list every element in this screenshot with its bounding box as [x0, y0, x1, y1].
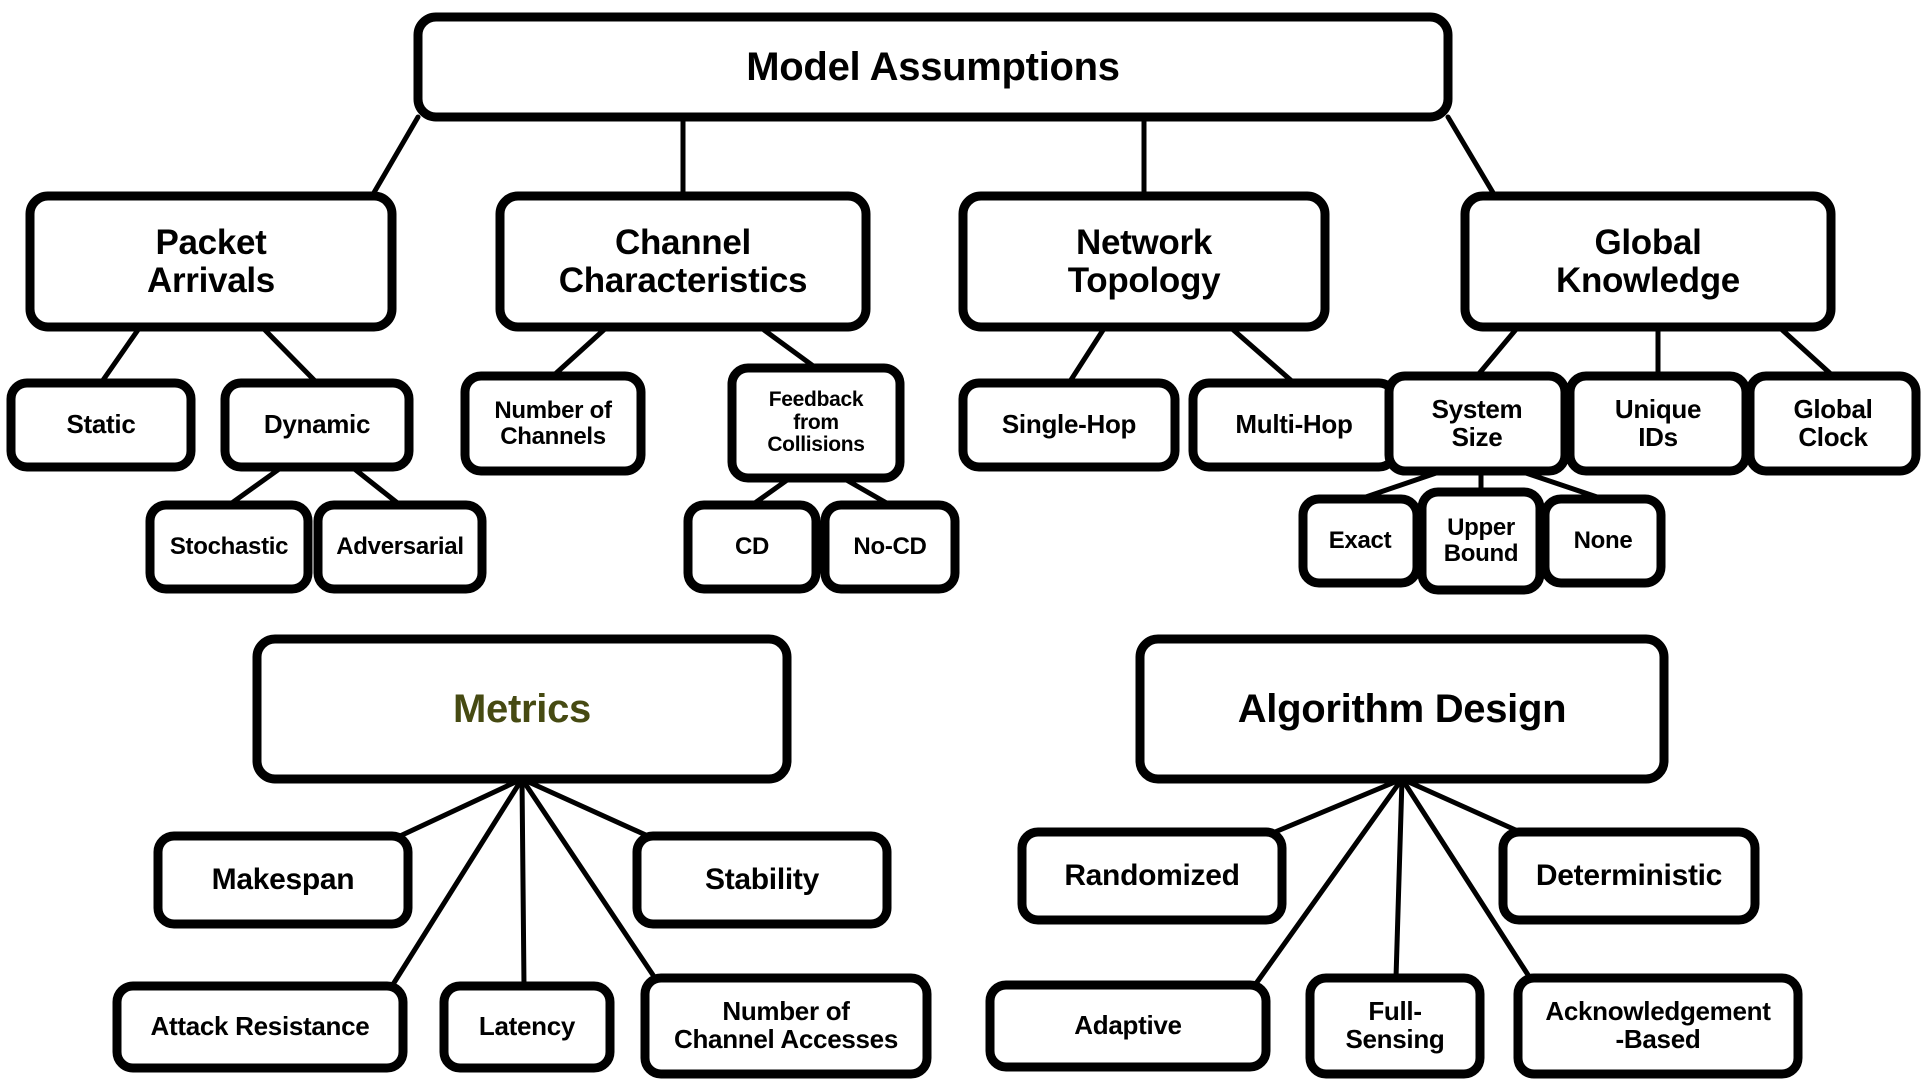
- node-box-upper-bound[interactable]: [1422, 492, 1540, 590]
- node-box-stability[interactable]: [637, 836, 887, 924]
- node-box-unique-ids[interactable]: [1570, 376, 1746, 471]
- node-box-packet-arrivals[interactable]: [30, 196, 392, 327]
- node-box-model-assumptions[interactable]: [418, 17, 1448, 117]
- edge-global-knowledge-to-system-size: [1477, 327, 1518, 376]
- node-box-attack-resistance[interactable]: [117, 986, 403, 1068]
- node-box-stochastic[interactable]: [150, 505, 308, 589]
- node-box-network-topology[interactable]: [963, 196, 1325, 327]
- edge-metrics-to-latency: [522, 779, 524, 986]
- edge-channel-characteristics-to-number-of-channels: [553, 327, 607, 376]
- edge-model-assumptions-to-packet-arrivals: [372, 117, 418, 196]
- node-box-static[interactable]: [11, 383, 191, 467]
- edge-global-knowledge-to-global-clock: [1779, 327, 1833, 376]
- node-box-makespan[interactable]: [158, 836, 408, 924]
- edge-packet-arrivals-to-dynamic: [262, 327, 317, 383]
- node-box-multi-hop[interactable]: [1193, 383, 1395, 467]
- edge-dynamic-to-stochastic: [229, 467, 282, 505]
- edge-dynamic-to-adversarial: [352, 467, 400, 505]
- edge-channel-characteristics-to-feedback-from-collisions: [760, 327, 816, 368]
- node-box-latency[interactable]: [444, 986, 610, 1068]
- node-box-dynamic[interactable]: [225, 383, 409, 467]
- node-box-system-size[interactable]: [1389, 376, 1565, 471]
- node-box-number-of-channels[interactable]: [465, 376, 641, 471]
- diagram-canvas: [0, 0, 1922, 1086]
- node-box-global-clock[interactable]: [1750, 376, 1916, 471]
- node-box-full-sensing[interactable]: [1310, 978, 1480, 1074]
- edge-network-topology-to-single-hop: [1069, 327, 1105, 383]
- edge-packet-arrivals-to-static: [101, 327, 140, 383]
- node-box-adaptive[interactable]: [990, 985, 1266, 1067]
- node-box-deterministic[interactable]: [1503, 832, 1755, 920]
- node-box-adversarial[interactable]: [318, 505, 482, 589]
- node-box-channel-characteristics[interactable]: [500, 196, 866, 327]
- node-box-algorithm-design[interactable]: [1140, 639, 1664, 779]
- node-box-global-knowledge[interactable]: [1465, 196, 1831, 327]
- node-box-number-of-channel-accesses[interactable]: [645, 978, 927, 1074]
- node-box-cd[interactable]: [688, 505, 816, 589]
- node-box-feedback-from-collisions[interactable]: [732, 368, 900, 478]
- node-box-single-hop[interactable]: [963, 383, 1175, 467]
- edge-model-assumptions-to-global-knowledge: [1448, 117, 1495, 196]
- node-box-randomized[interactable]: [1022, 832, 1282, 920]
- node-box-none[interactable]: [1545, 499, 1661, 583]
- node-box-metrics[interactable]: [257, 639, 787, 779]
- edge-algorithm-design-to-full-sensing: [1396, 779, 1402, 978]
- node-group: [11, 17, 1916, 1074]
- node-box-no-cd[interactable]: [825, 505, 955, 589]
- edge-network-topology-to-multi-hop: [1230, 327, 1294, 383]
- taxonomy-diagram: Model AssumptionsPacket ArrivalsChannel …: [0, 0, 1922, 1086]
- node-box-exact[interactable]: [1303, 499, 1417, 583]
- node-box-acknowledgement-based[interactable]: [1518, 978, 1798, 1074]
